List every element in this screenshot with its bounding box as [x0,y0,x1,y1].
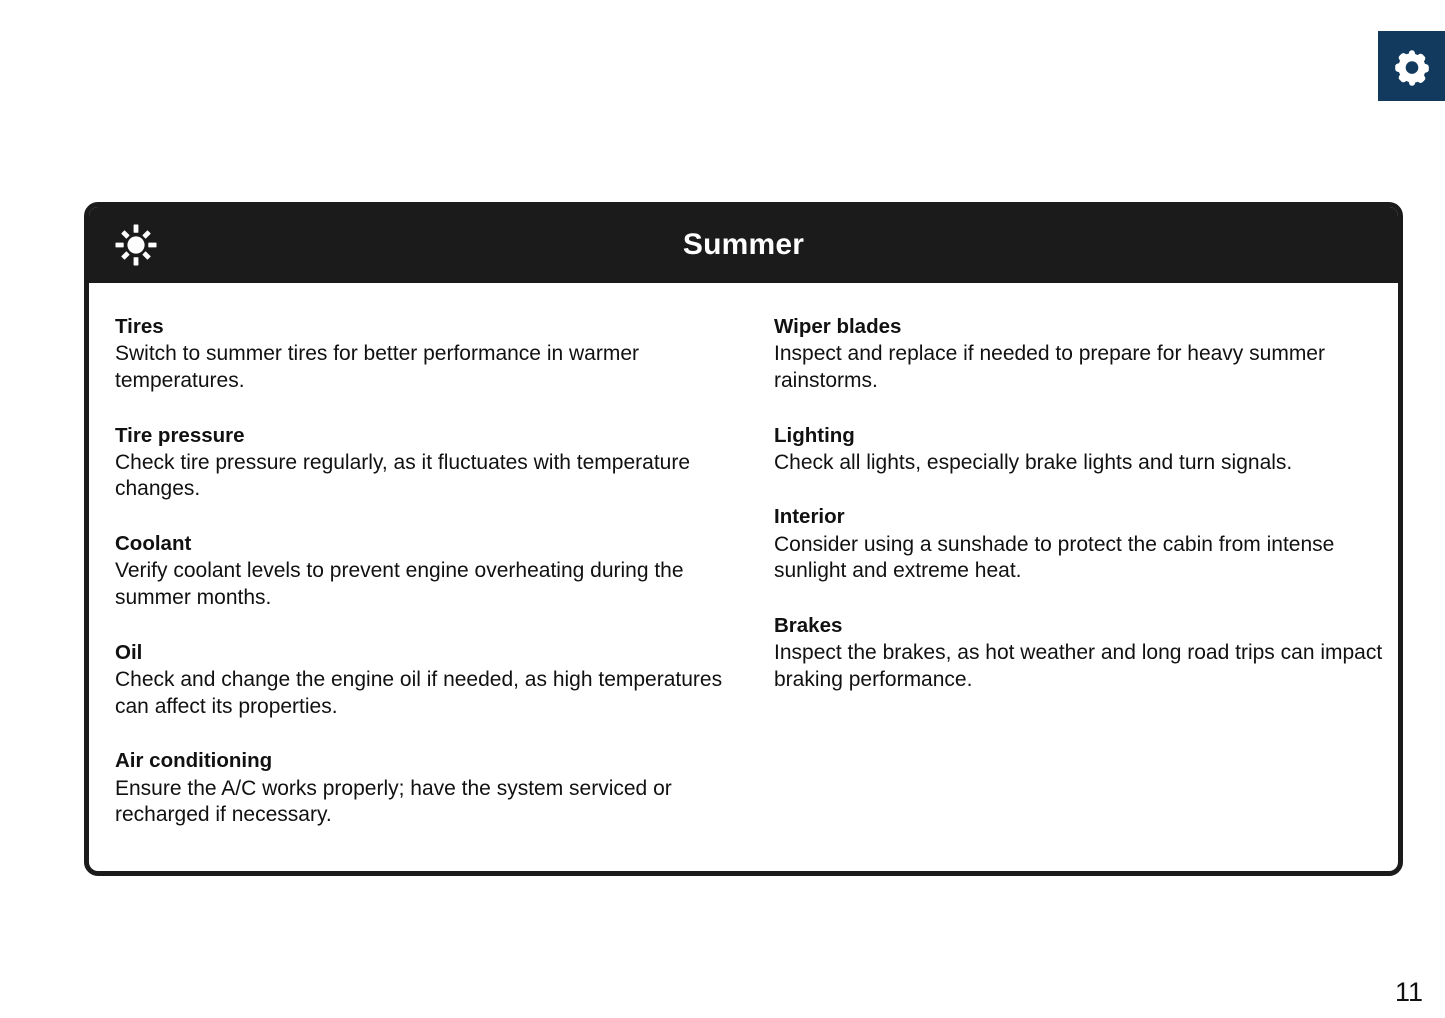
gear-icon [1392,46,1432,86]
section-coolant: Coolant Verify coolant levels to prevent… [115,530,726,612]
column-right: Wiper blades Inspect and replace if need… [774,313,1385,694]
section-title: Lighting [774,422,1385,449]
section-oil: Oil Check and change the engine oil if n… [115,639,726,721]
section-title: Wiper blades [774,313,1385,340]
section-tire-pressure: Tire pressure Check tire pressure regula… [115,422,726,504]
section-text: Verify coolant levels to prevent engine … [115,558,726,611]
page-number: 11 [1395,979,1423,1006]
section-lighting: Lighting Check all lights, especially br… [774,422,1385,477]
section-text: Switch to summer tires for better perfor… [115,341,726,394]
section-wiper-blades: Wiper blades Inspect and replace if need… [774,313,1385,395]
section-title: Tires [115,313,726,340]
section-interior: Interior Consider using a sunshade to pr… [774,503,1385,585]
section-title: Oil [115,639,726,666]
summer-card: Summer Tires Switch to summer tires for … [84,202,1403,876]
section-text: Check all lights, especially brake light… [774,450,1385,477]
section-text: Inspect and replace if needed to prepare… [774,341,1385,394]
card-body: Tires Switch to summer tires for better … [89,283,1398,853]
section-title: Air conditioning [115,747,726,774]
card-title: Summer [89,207,1398,283]
section-title: Brakes [774,612,1385,639]
card-header: Summer [89,207,1398,283]
section-tires: Tires Switch to summer tires for better … [115,313,726,395]
section-text: Consider using a sunshade to protect the… [774,532,1385,585]
page-root: Summer Tires Switch to summer tires for … [0,0,1445,1018]
sun-icon [113,222,159,268]
settings-button[interactable] [1378,31,1445,101]
section-text: Ensure the A/C works properly; have the … [115,776,726,829]
section-air-conditioning: Air conditioning Ensure the A/C works pr… [115,747,726,829]
section-title: Interior [774,503,1385,530]
section-text: Inspect the brakes, as hot weather and l… [774,640,1385,693]
column-left: Tires Switch to summer tires for better … [115,313,726,829]
section-brakes: Brakes Inspect the brakes, as hot weathe… [774,612,1385,694]
section-text: Check and change the engine oil if neede… [115,667,726,720]
section-text: Check tire pressure regularly, as it flu… [115,450,726,503]
section-title: Tire pressure [115,422,726,449]
section-title: Coolant [115,530,726,557]
